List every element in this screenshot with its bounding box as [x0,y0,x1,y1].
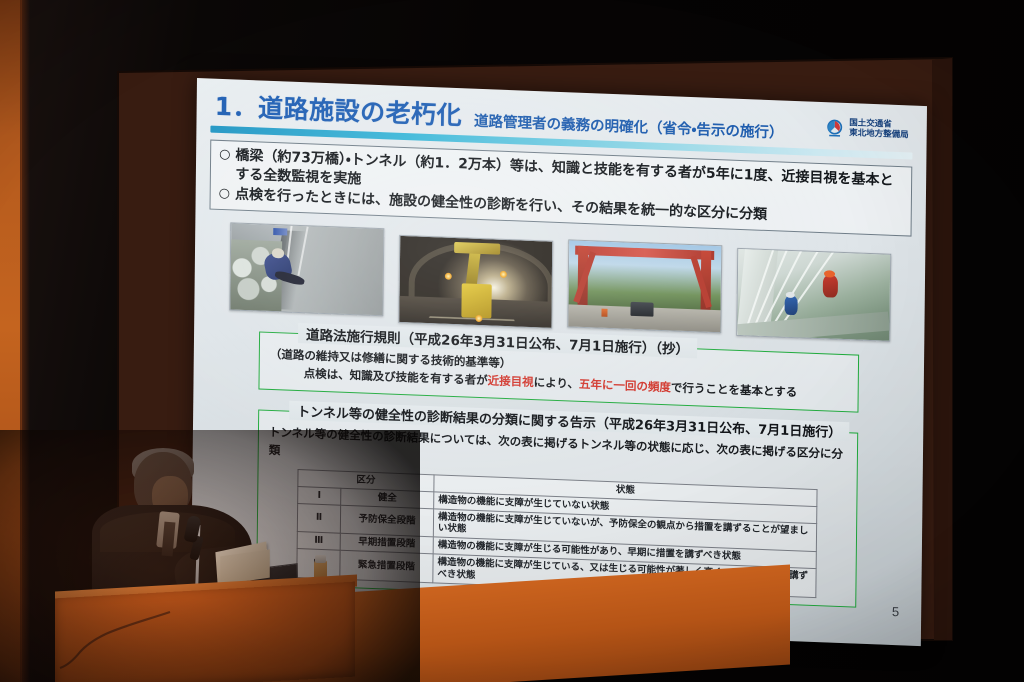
mlit-emblem-icon [825,118,845,139]
health-classification-table: 区分 状態 Ⅰ 健全 構造物の機能に支障が生じていない状態 Ⅱ [296,469,817,598]
mlit-logo-text: 国土交通省 東北地方整備局 [849,119,909,141]
mlit-logo: 国土交通省 東北地方整備局 [825,118,909,141]
slide-footer-filename: rikumi.pdf [207,601,246,613]
presentation-photo-scene: 1．道路施設の老朽化 道路管理者の義務の明確化（省令・告示の施行） [0,0,1024,682]
slide-title-main: 1．道路施設の老朽化 [214,87,462,133]
table-cell-rank: Ⅳ [297,549,340,579]
photo-cable-stayed-bridge-inspection [736,248,891,342]
table-cell-name: 緊急措置段階 [340,550,433,582]
slide-page-number: 5 [892,604,899,619]
callout1-highlight-close-visual: 近接目視 [488,373,534,389]
photo-tunnel-inspection-vehicle [398,235,553,329]
table-cell-rank: Ⅲ [297,532,340,551]
bullet-marker-icon: ○ [219,184,231,202]
callout1-line2-mid: により、 [534,375,579,391]
photo-red-truss-bridge [567,240,722,334]
callout-health-classification: トンネル等の健全性の診断結果の分類に関する告示（平成26年3月31日公布、7月1… [256,410,858,608]
mlit-logo-line2: 東北地方整備局 [849,128,909,140]
table-cell-rank: Ⅱ [297,503,340,533]
photo-rope-access-bridge-inspection [229,223,384,317]
table-cell-name: 予防保全段階 [340,505,433,537]
callout-road-act-rules: 道路法施行規則（平成26年3月31日公布、7月1日施行）（抄） （道路の維持又は… [258,332,859,413]
callout1-line2-post: で行うことを基本とする [671,380,797,399]
bullet-marker-icon: ○ [219,146,231,164]
projected-slide: 1．道路施設の老朽化 道路管理者の義務の明確化（省令・告示の施行） [191,78,927,646]
callout1-highlight-frequency: 五年に一回の頻度 [579,376,671,394]
table-cell-rank: Ⅰ [298,486,341,505]
